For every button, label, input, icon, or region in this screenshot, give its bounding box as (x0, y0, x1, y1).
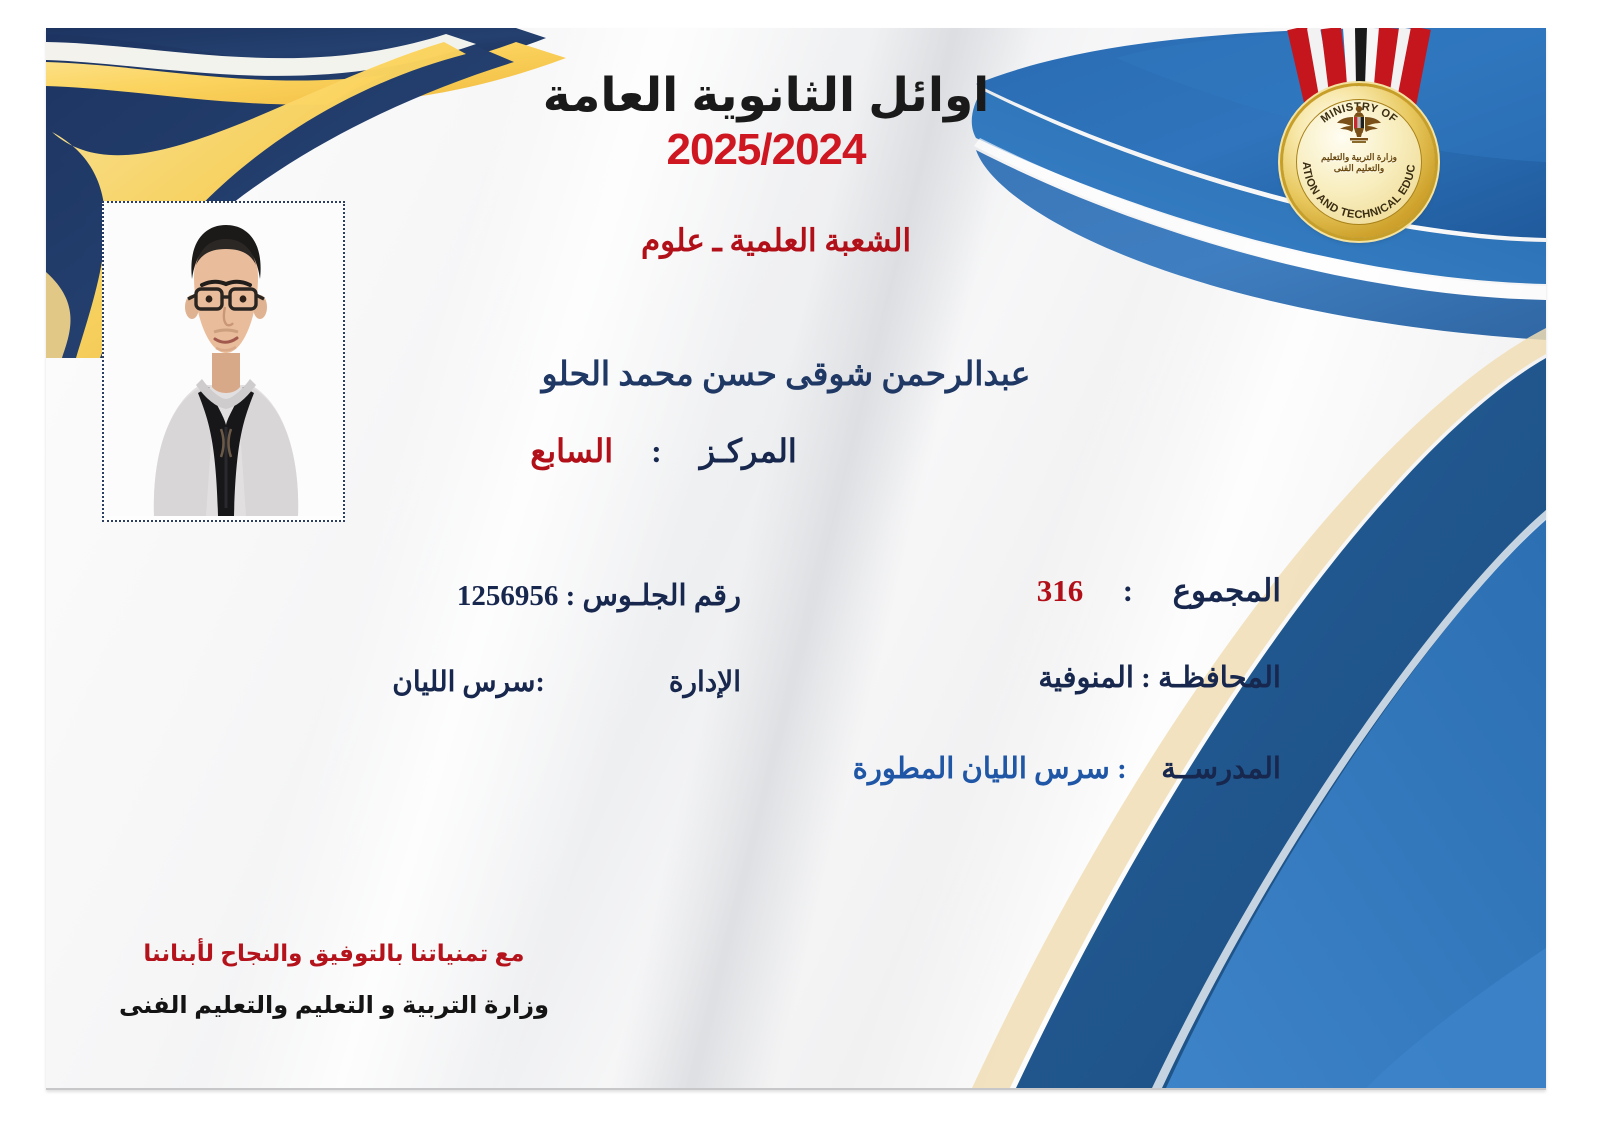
governorate-label: المحافظـة : (1141, 662, 1281, 694)
row-governorate: المحافظـة : المنوفية (1038, 660, 1281, 695)
row-rank: المركـز : السابع (46, 432, 1281, 470)
page-title: اوائل الثانوية العامة (46, 70, 1486, 119)
rank-colon: : (651, 433, 662, 469)
school-label: المدرســة (1161, 753, 1281, 785)
seat-number-label: رقم الجلـوس : (566, 580, 741, 612)
governorate-value: المنوفية (1038, 662, 1134, 694)
row-school: المدرســة : سرس الليان المطورة (853, 751, 1281, 786)
row-administration: الإدارة :سرس الليان (392, 665, 741, 699)
administration-label: الإدارة (669, 667, 741, 698)
total-value: 316 (1037, 573, 1084, 608)
student-name: عبدالرحمن شوقى حسن محمد الحلو (46, 354, 1526, 394)
academic-year: 2025/2024 (46, 125, 1486, 175)
total-label: المجموع (1173, 573, 1281, 608)
rank-value: السابع (530, 433, 613, 469)
total-colon: : (1123, 573, 1133, 608)
header-block: اوائل الثانوية العامة 2025/2024 (46, 70, 1546, 175)
footer-block: مع تمنياتنا بالتوفيق والنجاح لأبناننا وز… (104, 940, 564, 1020)
administration-value: :سرس الليان (392, 667, 545, 698)
school-value: : سرس الليان المطورة (853, 753, 1127, 785)
rank-label: المركـز (700, 433, 797, 469)
footer-wish-text: مع تمنياتنا بالتوفيق والنجاح لأبناننا (104, 940, 564, 967)
footer-ministry-name: وزارة التربية و التعليم والتعليم الفنى (104, 991, 564, 1020)
row-total: المجموع : 316 (1037, 573, 1281, 609)
decoration-bottom-right (766, 188, 1546, 1088)
row-seat-number: رقم الجلـوس : 1256956 (457, 578, 741, 613)
certificate-page: MINISTRY OF EDUCATION AND TECHNICAL EDUC… (46, 28, 1546, 1090)
seat-number-value: 1256956 (457, 580, 559, 612)
division-label: الشعبة العلمية ـ علوم (46, 223, 1506, 259)
